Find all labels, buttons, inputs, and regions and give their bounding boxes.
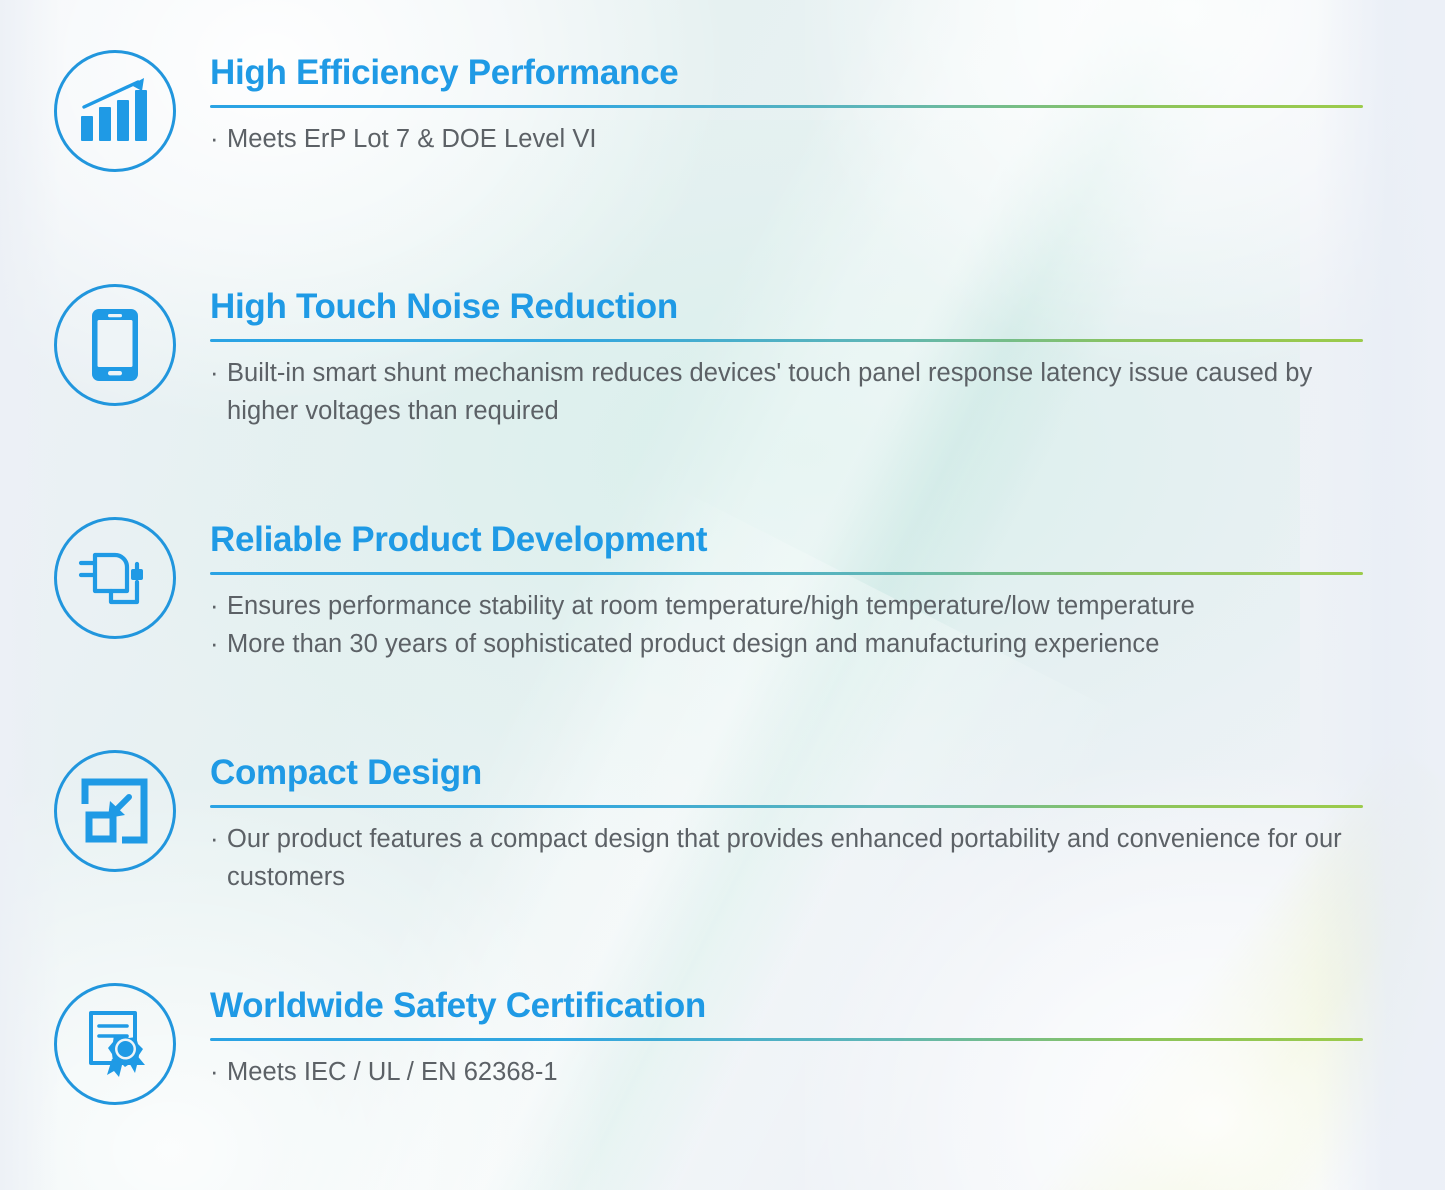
feature-icon-slot — [52, 48, 178, 174]
feature-bullet-text: Meets IEC / UL / EN 62368-1 — [227, 1053, 1382, 1091]
feature-bullet-line: · Ensures performance stability at room … — [210, 587, 1382, 625]
feature-list: High Efficiency Performance · Meets ErP … — [0, 0, 1445, 1190]
certificate-seal-icon — [54, 983, 176, 1105]
feature-item-worldwide-safety-certification: Worldwide Safety Certification · Meets I… — [52, 981, 1382, 1107]
feature-bullet-line: · Meets IEC / UL / EN 62368-1 — [210, 1053, 1382, 1091]
feature-divider — [210, 1038, 1363, 1041]
feature-title: Reliable Product Development — [210, 519, 1382, 561]
feature-body: Worldwide Safety Certification · Meets I… — [178, 981, 1382, 1091]
feature-bullet-line: · More than 30 years of sophisticated pr… — [210, 625, 1382, 663]
bullet-marker: · — [210, 1053, 227, 1091]
feature-divider — [210, 339, 1363, 342]
feature-body: High Efficiency Performance · Meets ErP … — [178, 48, 1382, 158]
feature-bullet-text: Our product features a compact design th… — [227, 820, 1382, 896]
bullet-marker: · — [210, 354, 227, 392]
feature-body: Compact Design · Our product features a … — [178, 748, 1382, 896]
feature-bullet-text: Built-in smart shunt mechanism reduces d… — [227, 354, 1382, 430]
feature-title: High Touch Noise Reduction — [210, 286, 1382, 328]
feature-divider — [210, 105, 1363, 108]
bullet-marker: · — [210, 120, 227, 158]
compact-resize-icon — [54, 750, 176, 872]
feature-bullet-text: Meets ErP Lot 7 & DOE Level VI — [227, 120, 1382, 158]
feature-bullet-list: · Our product features a compact design … — [210, 820, 1382, 896]
feature-divider — [210, 805, 1363, 808]
feature-icon-slot — [52, 981, 178, 1107]
bar-chart-growth-icon — [54, 50, 176, 172]
feature-list-page: High Efficiency Performance · Meets ErP … — [0, 0, 1445, 1190]
feature-bullet-line: · Meets ErP Lot 7 & DOE Level VI — [210, 120, 1382, 158]
power-adapter-icon — [54, 517, 176, 639]
feature-bullet-text: More than 30 years of sophisticated prod… — [227, 625, 1382, 663]
feature-title: Worldwide Safety Certification — [210, 985, 1382, 1027]
feature-bullet-text: Ensures performance stability at room te… — [227, 587, 1382, 625]
feature-bullet-list: · Meets ErP Lot 7 & DOE Level VI — [210, 120, 1382, 158]
feature-bullet-list: · Ensures performance stability at room … — [210, 587, 1382, 663]
feature-body: Reliable Product Development · Ensures p… — [178, 515, 1382, 663]
bullet-marker: · — [210, 587, 227, 625]
feature-title: Compact Design — [210, 752, 1382, 794]
feature-icon-slot — [52, 515, 178, 641]
bullet-marker: · — [210, 820, 227, 858]
feature-title: High Efficiency Performance — [210, 52, 1382, 94]
feature-item-high-touch-noise-reduction: High Touch Noise Reduction · Built-in sm… — [52, 282, 1382, 430]
feature-item-high-efficiency-performance: High Efficiency Performance · Meets ErP … — [52, 48, 1382, 174]
feature-bullet-line: · Built-in smart shunt mechanism reduces… — [210, 354, 1382, 430]
smartphone-icon — [54, 284, 176, 406]
feature-icon-slot — [52, 282, 178, 408]
feature-body: High Touch Noise Reduction · Built-in sm… — [178, 282, 1382, 430]
feature-item-compact-design: Compact Design · Our product features a … — [52, 748, 1382, 896]
feature-item-reliable-product-development: Reliable Product Development · Ensures p… — [52, 515, 1382, 663]
feature-bullet-list: · Meets IEC / UL / EN 62368-1 — [210, 1053, 1382, 1091]
bullet-marker: · — [210, 625, 227, 663]
feature-bullet-line: · Our product features a compact design … — [210, 820, 1382, 896]
feature-bullet-list: · Built-in smart shunt mechanism reduces… — [210, 354, 1382, 430]
feature-icon-slot — [52, 748, 178, 874]
feature-divider — [210, 572, 1363, 575]
